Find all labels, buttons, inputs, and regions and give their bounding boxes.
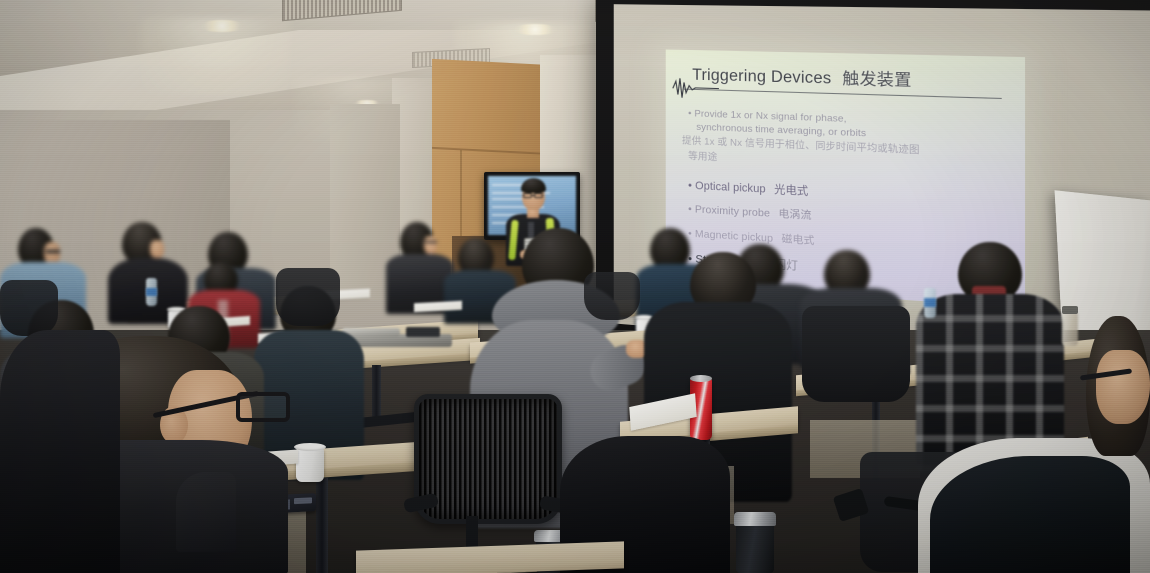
slide-bullet-optical-pickup: • Optical pickup光电式 (688, 179, 808, 198)
dark-device (406, 327, 440, 337)
mesh-office-chair (0, 280, 58, 336)
thermos-flask (736, 518, 774, 573)
downlight-2 (512, 24, 558, 35)
shoulder (176, 472, 236, 552)
waveform-icon (672, 72, 719, 104)
glasses-lens-icon (236, 392, 290, 422)
bottle-label (924, 298, 936, 307)
glasses-icon (425, 241, 437, 243)
paper-cup (296, 448, 324, 482)
slide-title: Triggering Devices触发装置 (692, 62, 1015, 94)
water-bottle (1062, 312, 1078, 346)
can-top (690, 375, 712, 382)
mesh-office-chair (276, 268, 340, 326)
attendee-left-edge (0, 330, 120, 573)
calculator-display (294, 497, 312, 504)
mesh-office-chair (802, 306, 910, 402)
downlight-1 (198, 20, 246, 32)
classroom-photo: Triggering Devices触发装置 • Provide 1x or N… (0, 0, 1150, 573)
slide-title-cn: 触发装置 (842, 70, 911, 90)
attendee-white-shirt-face (1096, 350, 1150, 424)
glasses-right-lens-icon (534, 193, 543, 198)
slide-bullet-proximity-probe: • Proximity probe电涡流 (688, 204, 811, 224)
face (150, 240, 164, 258)
cup-rim (294, 443, 326, 451)
face (424, 236, 437, 254)
attendee-dark-jacket-foreground (930, 456, 1130, 573)
bottle-label (146, 288, 157, 296)
face (44, 242, 60, 264)
glasses-bridge-icon (532, 195, 535, 196)
thermos-cap (734, 512, 776, 526)
mesh-office-chair (584, 272, 640, 320)
desk-leg (316, 478, 328, 573)
bottle-cap (1062, 306, 1078, 314)
instructor-hair (521, 178, 546, 193)
glasses-left-lens-icon (523, 193, 532, 198)
desk-leg (372, 365, 381, 423)
glasses-icon (46, 250, 60, 253)
